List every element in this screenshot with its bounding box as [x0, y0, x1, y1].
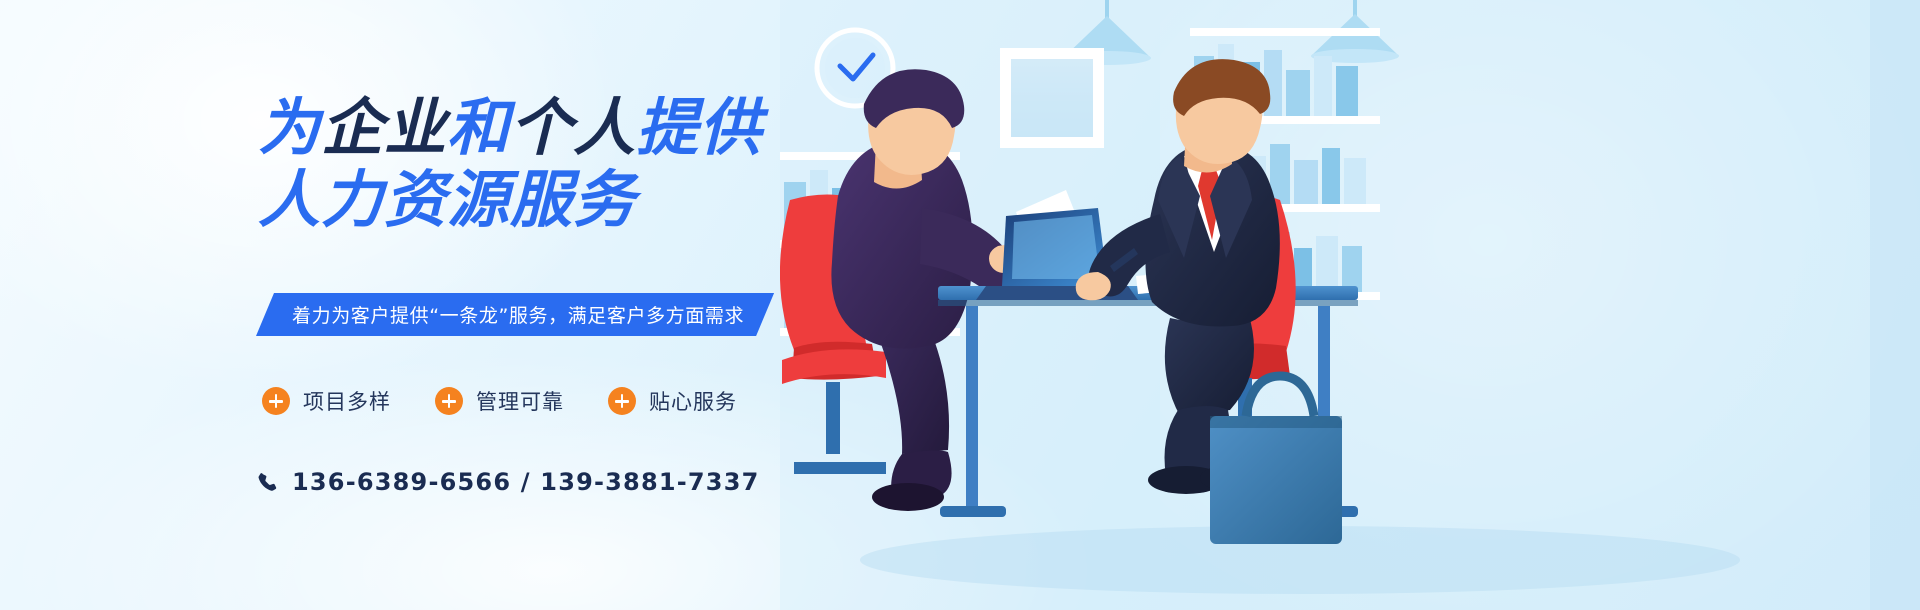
feature-label: 项目多样 — [303, 386, 391, 416]
contact-row[interactable]: 136-6389-6566 / 139-3881-7337 — [256, 468, 760, 496]
plus-icon — [435, 387, 463, 415]
headline-segment: 和 — [447, 91, 510, 164]
feature-list: 项目多样 管理可靠 贴心服务 — [262, 386, 737, 416]
hero-banner: 为企业和个人提供 人力资源服务 着力为客户提供“一条龙”服务，满足客户多方面需求… — [0, 0, 1920, 610]
hero-content: 为企业和个人提供 人力资源服务 着力为客户提供“一条龙”服务，满足客户多方面需求… — [0, 0, 840, 610]
feature-item[interactable]: 管理可靠 — [435, 386, 564, 416]
plus-icon — [262, 387, 290, 415]
feature-label: 管理可靠 — [476, 386, 564, 416]
headline-segment: 人力资源服务 — [258, 163, 636, 236]
plus-icon — [608, 387, 636, 415]
page-title: 为企业和个人提供 人力资源服务 — [258, 96, 762, 232]
phone-icon — [256, 471, 278, 493]
hero-illustration — [780, 0, 1920, 610]
headline-segment: 为 — [258, 91, 321, 164]
subtitle-text: 着力为客户提供“一条龙”服务，满足客户多方面需求 — [292, 301, 744, 328]
framed-picture — [1000, 48, 1104, 148]
feature-label: 贴心服务 — [649, 386, 737, 416]
headline-segment: 个人 — [510, 91, 636, 164]
phone-number: 136-6389-6566 / 139-3881-7337 — [292, 468, 760, 496]
feature-item[interactable]: 项目多样 — [262, 386, 391, 416]
headline-line-1: 为企业和个人提供 — [258, 96, 762, 160]
headline-segment: 企业 — [321, 91, 447, 164]
headline-line-2: 人力资源服务 — [258, 168, 762, 232]
subtitle-banner: 着力为客户提供“一条龙”服务，满足客户多方面需求 — [256, 293, 774, 336]
feature-item[interactable]: 贴心服务 — [608, 386, 737, 416]
headline-segment: 提供 — [636, 91, 762, 164]
